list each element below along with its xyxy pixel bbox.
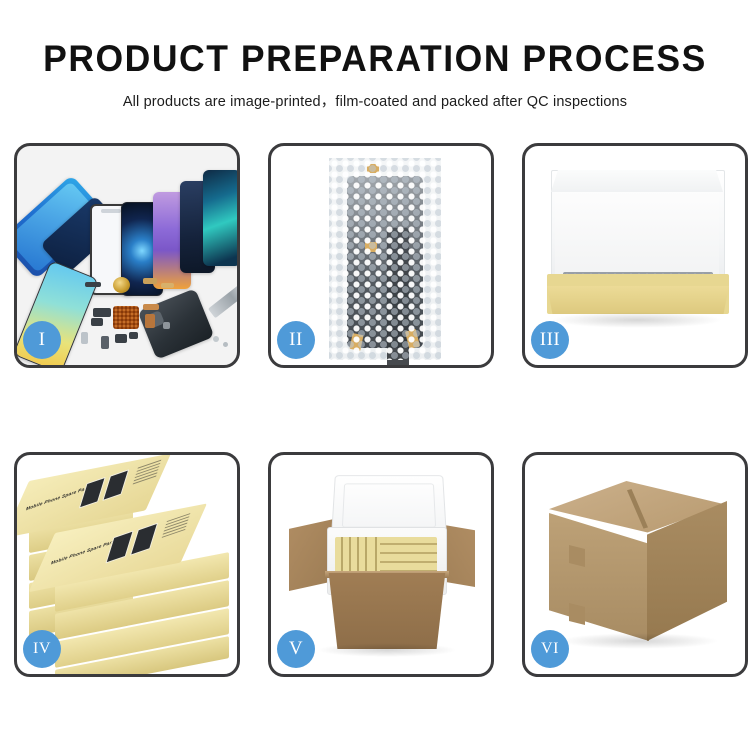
flex-part-icon [163,322,170,329]
flex-part-icon [101,336,109,349]
carton-body-icon [325,573,449,649]
drop-shadow [559,633,719,649]
flex-part-icon [85,282,101,287]
screen-image-icon [79,477,106,509]
product-preparation-process-infographic: PRODUCT PREPARATION PROCESS All products… [0,0,750,750]
box-stack: Mobile Phone Spare Parts Mobile Phone Sp… [25,477,233,661]
step-badge-3: III [531,321,569,359]
screwdriver-icon [208,282,240,319]
screen-image-icon [105,530,133,563]
screw-icon [213,336,219,342]
header: PRODUCT PREPARATION PROCESS All products… [0,0,750,111]
page-title: PRODUCT PREPARATION PROCESS [15,40,735,77]
step-badge-4: IV [23,630,61,668]
flex-part-icon [129,332,138,339]
screen-image-icon [102,469,129,501]
step-panel-6[interactable]: VI [522,452,748,677]
yellow-box-front-icon [547,286,729,314]
speaker-coil-icon [113,277,130,293]
drop-shadow [317,643,457,657]
step-badge-6: VI [531,630,569,668]
tape-patch-icon [569,603,585,625]
step-badge-2: II [277,321,315,359]
screw-icon [223,342,228,347]
flex-part-icon [115,334,127,343]
flex-part-icon [81,332,88,344]
screen-image-icon [130,523,158,556]
bubble-bag-icon [329,158,441,360]
step-badge-5: V [277,630,315,668]
process-steps-grid: I II [14,143,748,679]
bubble-texture-icon [329,158,441,360]
step-panel-4[interactable]: Mobile Phone Spare Parts Mobile Phone Sp… [14,452,240,677]
teal-wave-display-icon [203,170,240,266]
step-badge-1: I [23,321,61,359]
tape-patch-icon [569,545,585,567]
step-panel-3[interactable]: III [522,143,748,368]
box-back-wall-icon [555,190,719,278]
step-panel-1[interactable]: I [14,143,240,368]
carton-left-face-icon [549,513,649,641]
flex-part-icon [145,314,155,328]
box-lid-flap-icon [551,170,723,192]
flex-part-icon [91,318,103,326]
page-subtitle: All products are image-printed，film-coat… [0,90,750,111]
flex-part-icon [143,278,157,284]
box-spec-lines [132,460,161,487]
step-panel-5[interactable]: V [268,452,494,677]
flex-part-icon [161,283,174,288]
flex-part-icon [143,304,159,310]
box-spec-lines [161,513,190,540]
step-panel-2[interactable]: II [268,143,494,368]
flex-part-icon [93,308,111,317]
copper-mesh-icon [113,306,139,329]
drop-shadow [551,312,723,328]
